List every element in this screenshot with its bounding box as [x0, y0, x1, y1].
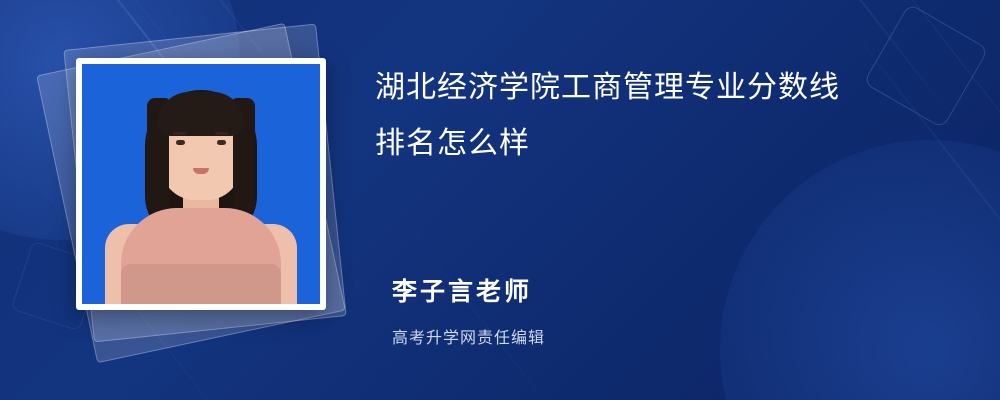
portrait-dress-shade — [121, 264, 281, 304]
headline-line-1: 湖北经济学院工商管理专业分数线 — [375, 60, 955, 116]
corner-glow — [720, 140, 1000, 400]
photo-card-stack — [52, 28, 352, 368]
portrait-eyebrow-right — [215, 132, 229, 135]
author-name: 李子言老师 — [392, 272, 545, 308]
headline-line-2: 排名怎么样 — [375, 116, 955, 172]
author-role: 高考升学网责任编辑 — [392, 324, 545, 348]
portrait-eye-left — [176, 140, 185, 145]
portrait-eye-right — [217, 140, 226, 145]
portrait-eyebrow-left — [173, 132, 187, 135]
portrait-hair-front — [158, 92, 244, 136]
portrait-photo — [82, 64, 320, 304]
headline-block: 湖北经济学院工商管理专业分数线 排名怎么样 — [375, 60, 955, 172]
author-block: 李子言老师 高考升学网责任编辑 — [392, 272, 545, 348]
portrait-photo-frame — [76, 58, 326, 310]
article-cover-banner: 湖北经济学院工商管理专业分数线 排名怎么样 李子言老师 高考升学网责任编辑 — [0, 0, 1000, 400]
portrait-dress — [121, 208, 281, 304]
